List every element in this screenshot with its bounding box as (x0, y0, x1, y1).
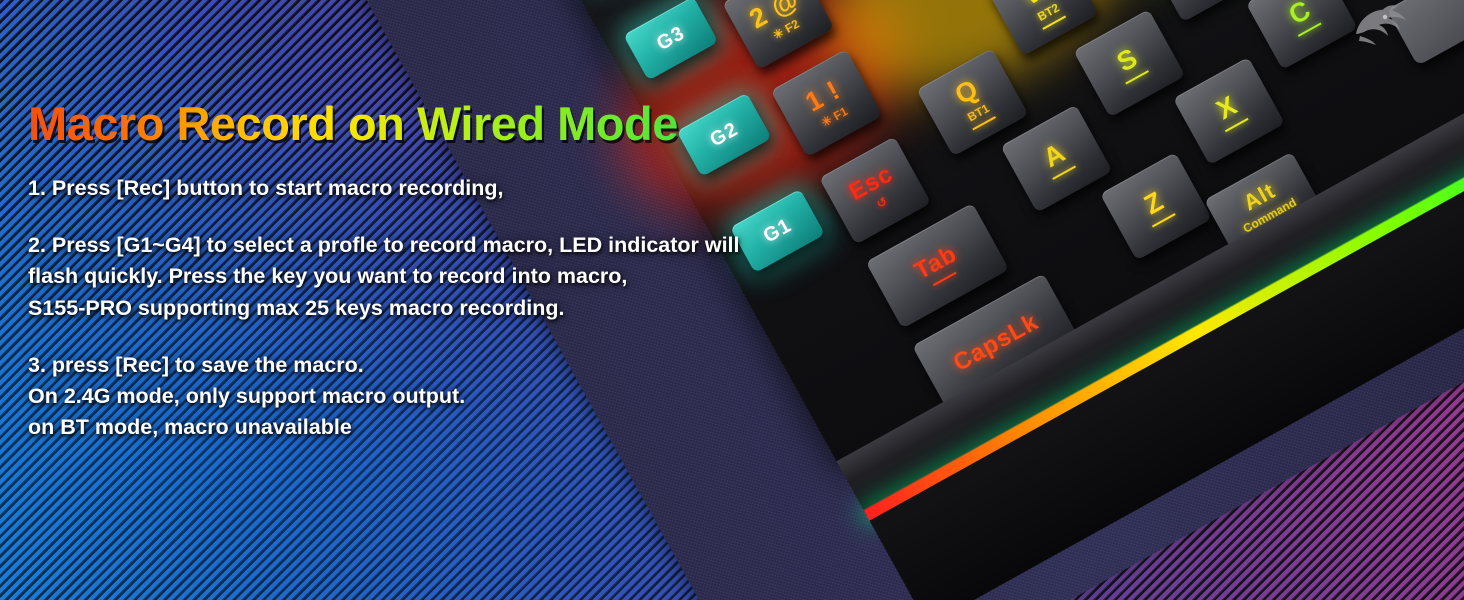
macro-key-g3-label: G3 (653, 23, 688, 54)
instruction-line: on BT mode, macro unavailable (28, 412, 888, 443)
instruction-step-1: 1. Press [Rec] button to start macro rec… (28, 173, 888, 204)
key-a-label: A (1039, 139, 1070, 173)
dragon-logo (1352, 4, 1414, 48)
instruction-line: On 2.4G mode, only support macro output. (28, 381, 888, 412)
instruction-line: 1. Press [Rec] button to start macro rec… (28, 173, 888, 204)
page-title: Macro Record on Wired Mode (28, 96, 888, 151)
copy-block: Macro Record on Wired Mode 1. Press [Rec… (28, 96, 888, 469)
instruction-step-3: 3. press [Rec] to save the macro. On 2.4… (28, 350, 888, 444)
key-x-label: X (1212, 92, 1242, 125)
instruction-line: 3. press [Rec] to save the macro. (28, 350, 888, 381)
promo-banner: ✕M ⌫ ☀ G1 G2 G3 G4 Rec Esc ↺ Tab (0, 0, 1464, 600)
instruction-step-2: 2. Press [G1~G4] to select a profle to r… (28, 230, 888, 324)
key-tab-label: Tab (911, 242, 961, 284)
key-z-label: Z (1140, 187, 1168, 219)
instruction-line: S155-PRO supporting max 25 keys macro re… (28, 293, 888, 324)
key-c-label: C (1285, 0, 1316, 29)
key-s-label: S (1113, 44, 1143, 77)
instruction-line: flash quickly. Press the key you want to… (28, 261, 888, 292)
instruction-line: 2. Press [G1~G4] to select a profle to r… (28, 230, 888, 261)
